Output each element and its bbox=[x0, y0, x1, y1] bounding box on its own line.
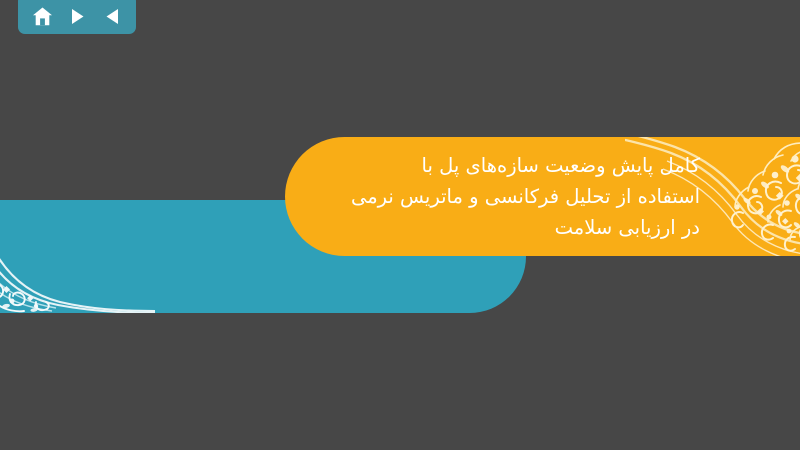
home-button[interactable] bbox=[29, 4, 55, 28]
forward-arrow-icon bbox=[70, 8, 85, 25]
forward-button[interactable] bbox=[64, 4, 90, 28]
orange-arabesque-ornament bbox=[625, 137, 800, 256]
navigation-toolbar bbox=[18, 0, 136, 34]
orange-title-panel bbox=[285, 137, 800, 256]
teal-arabesque-ornament bbox=[0, 200, 155, 313]
slide-canvas: کامل پایش وضعیت سازه‌های پل با استفاده ا… bbox=[0, 0, 800, 450]
back-button[interactable] bbox=[99, 4, 125, 28]
back-arrow-icon bbox=[105, 8, 120, 25]
home-icon bbox=[32, 7, 53, 26]
